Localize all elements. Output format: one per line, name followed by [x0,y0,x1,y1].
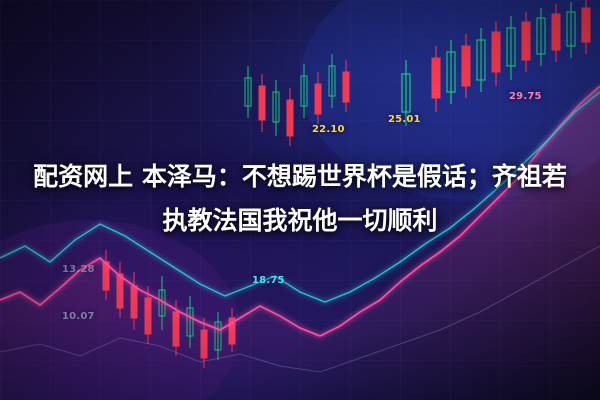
chart-label-18-75: 18.75 [252,275,285,286]
chart-label-22-10: 22.10 [312,124,345,135]
chart-label-29-75: 29.75 [509,91,542,102]
chart-label-25-01: 25.01 [388,114,421,125]
image-canvas: 29.75 25.01 22.10 18.75 13.28 10.07 配资网上… [0,0,600,400]
chart-label-10-07: 10.07 [62,311,95,322]
chart-label-13-28: 13.28 [62,264,95,275]
headline-line-1: 配资网上 本泽马：不想踢世界杯是假话；齐祖若 [18,155,582,199]
headline-line-2: 执教法国我祝他一切顺利 [18,199,582,243]
headline-text: 配资网上 本泽马：不想踢世界杯是假话；齐祖若 执教法国我祝他一切顺利 [0,155,600,243]
